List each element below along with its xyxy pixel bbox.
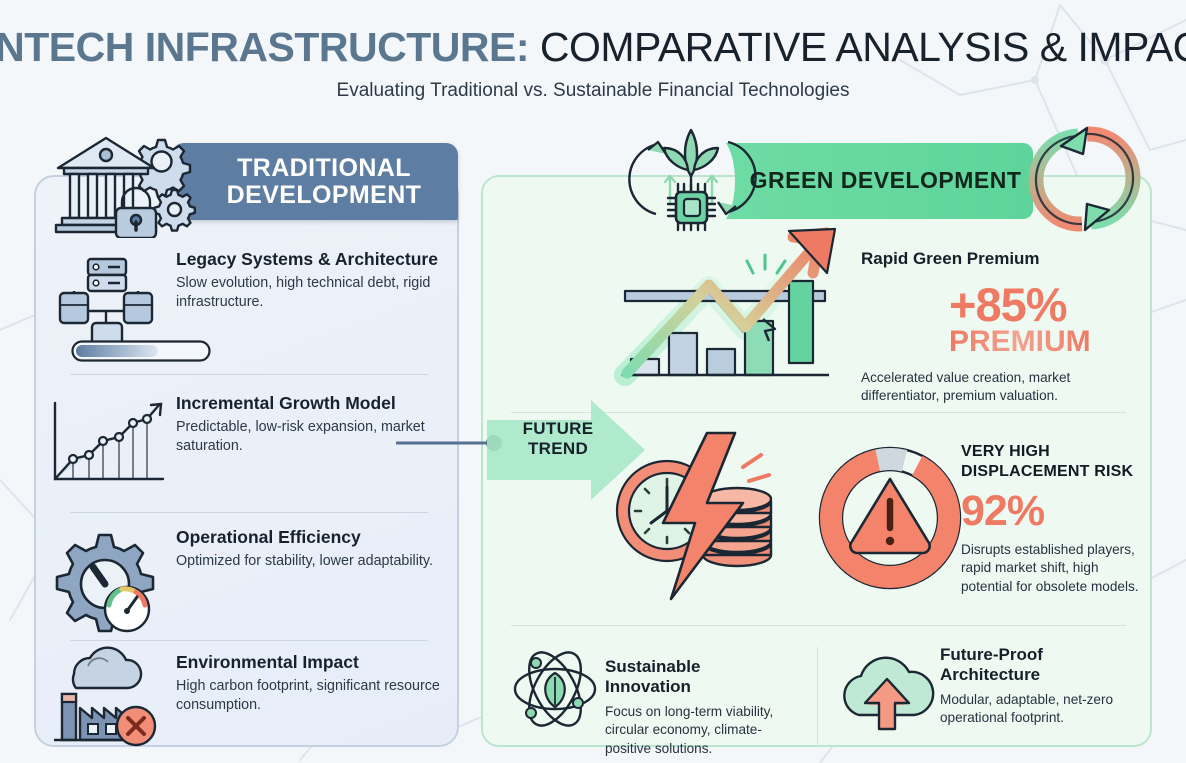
page-title-rest: COMPARATIVE ANALYSIS & IMPACT: [529, 24, 1186, 70]
future-trend-label-line1: FUTURE: [509, 419, 607, 439]
green-footer-title: Sustainable Innovation: [605, 657, 785, 698]
green-header-bar: GREEN DEVELOPMENT: [738, 143, 1033, 219]
green-premium-block: Rapid Green Premium +85% PREMIUM Acceler…: [861, 249, 1143, 406]
green-premium-desc: Accelerated value creation, market diffe…: [861, 369, 1143, 406]
green-premium-value: +85%: [949, 283, 1067, 328]
future-trend-label-line2: TREND: [509, 439, 607, 459]
green-header-label: GREEN DEVELOPMENT: [750, 168, 1022, 193]
green-risk-title-line2: DISPLACEMENT RISK: [961, 462, 1139, 482]
traditional-item-desc: Optimized for stability, lower adaptabil…: [176, 552, 433, 571]
green-divider: [511, 625, 1126, 626]
traditional-divider: [70, 374, 428, 375]
factory-pollution-icon: [36, 634, 176, 748]
green-premium-value-label: PREMIUM: [949, 328, 1091, 357]
traditional-item-operational-efficiency: Operational Efficiency Optimized for sta…: [36, 527, 461, 641]
green-footer-title: Future-Proof Architecture: [940, 645, 1132, 686]
traditional-development-panel: Legacy Systems & Architecture Slow evolu…: [34, 175, 459, 747]
green-risk-desc: Disrupts established players, rapid mark…: [961, 541, 1139, 596]
traditional-item-title: Operational Efficiency: [176, 527, 433, 548]
legacy-progress-bar: [71, 340, 211, 362]
green-risk-title-line1: VERY HIGH: [961, 442, 1139, 462]
bar-chart-rising-arrow-icon: [613, 225, 853, 395]
future-trend-label: FUTURE TREND: [509, 419, 607, 459]
traditional-header-bar: TRADITIONAL DEVELOPMENT: [172, 143, 458, 220]
traditional-item-title: Legacy Systems & Architecture: [176, 249, 447, 270]
circular-recycle-arrows-icon: [1027, 124, 1142, 234]
green-footer-item-future-proof: Future-Proof Architecture Modular, adapt…: [835, 639, 1132, 744]
traditional-item-title: Environmental Impact: [176, 652, 447, 673]
page-title: FINTECH INFRASTRUCTURE: COMPARATIVE ANAL…: [0, 24, 1186, 71]
line-chart-growth-icon: [36, 393, 176, 492]
traditional-divider: [70, 512, 428, 513]
green-premium-title: Rapid Green Premium: [861, 249, 1143, 269]
traditional-header-label: TRADITIONAL DEVELOPMENT: [190, 155, 458, 209]
plant-microchip-icon: [624, 118, 759, 233]
traditional-item-title: Incremental Growth Model: [176, 393, 447, 414]
green-risk-value: 92%: [961, 491, 1139, 532]
green-footer-desc: Focus on long-term viability, circular e…: [605, 703, 785, 758]
cloud-up-arrow-icon: [835, 639, 940, 744]
page-title-strong: FINTECH INFRASTRUCTURE:: [0, 24, 529, 70]
green-footer-item-sustainable-innovation: Sustainable Innovation Focus on long-ter…: [505, 639, 785, 758]
green-risk-block: VERY HIGH DISPLACEMENT RISK 92% Disrupts…: [961, 442, 1139, 596]
green-footer-vertical-divider: [817, 647, 818, 747]
traditional-item-desc: High carbon footprint, significant resou…: [176, 677, 447, 716]
atom-leaf-icon: [505, 639, 605, 744]
bank-gear-lock-icon: [50, 128, 200, 238]
gear-gauge-icon: [36, 527, 176, 641]
warning-donut-gauge-icon: [803, 431, 978, 611]
page-header: FINTECH INFRASTRUCTURE: COMPARATIVE ANAL…: [0, 0, 1186, 118]
green-footer-desc: Modular, adaptable, net-zero operational…: [940, 691, 1132, 728]
page-subtitle: Evaluating Traditional vs. Sustainable F…: [337, 80, 850, 102]
traditional-item-environmental-impact: Environmental Impact High carbon footpri…: [36, 634, 461, 748]
traditional-item-desc: Slow evolution, high technical debt, rig…: [176, 274, 447, 313]
